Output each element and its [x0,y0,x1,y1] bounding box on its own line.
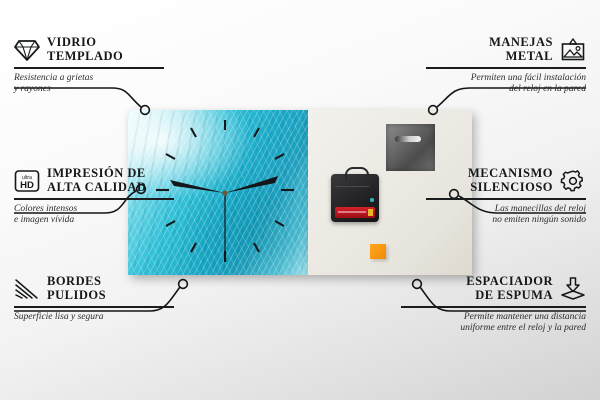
feature-header: MECANISMOSILENCIOSO [426,167,586,194]
title-underline [401,306,586,308]
beveled-edge-icon [14,276,40,302]
feature-description: Las manecillas del relojno emiten ningún… [426,204,586,227]
feature-espaciador-espuma[interactable]: ESPACIADORDE ESPUMA Permite mantener una… [401,275,586,335]
title-underline [426,198,586,200]
feature-header: MANEJASMETAL [426,36,586,63]
feature-header: ESPACIADORDE ESPUMA [401,275,586,302]
feature-description: Permite mantener una distanciauniforme e… [401,312,586,335]
feature-title: MECANISMOSILENCIOSO [468,167,553,194]
title-underline [426,67,586,69]
feature-header: ultra HD IMPRESIÓN DEALTA CALIDAD [14,167,174,194]
title-underline [14,67,164,69]
feature-header: VIDRIOTEMPLADO [14,36,164,63]
title-underline [14,306,174,308]
feature-bordes-pulidos[interactable]: BORDESPULIDOS Superficie lisa y segura [14,275,174,323]
feature-manejas-metal[interactable]: MANEJASMETAL Permiten una fácil instalac… [426,36,586,96]
title-underline [14,198,174,200]
feature-title: ESPACIADORDE ESPUMA [466,275,553,302]
svg-text:HD: HD [20,180,34,191]
feature-header: BORDESPULIDOS [14,275,174,302]
feature-description: Resistencia a grietasy rayones [14,73,164,96]
feature-title: IMPRESIÓN DEALTA CALIDAD [47,167,146,194]
press-down-layer-icon [560,276,586,302]
picture-hanger-icon [560,37,586,63]
feature-vidrio-templado[interactable]: VIDRIOTEMPLADO Resistencia a grietasy ra… [14,36,164,96]
gear-icon [560,168,586,194]
feature-title: BORDESPULIDOS [47,275,106,302]
feature-title: MANEJASMETAL [489,36,553,63]
feature-title: VIDRIOTEMPLADO [47,36,123,63]
diamond-icon [14,37,40,63]
feature-description: Permiten una fácil instalacióndel reloj … [426,73,586,96]
feature-description: Colores intensose imagen vívida [14,204,174,227]
infographic-canvas: VIDRIOTEMPLADO Resistencia a grietasy ra… [0,0,600,400]
feature-description: Superficie lisa y segura [14,312,174,324]
feature-mecanismo-silencioso[interactable]: MECANISMOSILENCIOSO Las manecillas del r… [426,167,586,227]
ultra-hd-icon: ultra HD [14,168,40,194]
feature-impresion-alta-calidad[interactable]: ultra HD IMPRESIÓN DEALTA CALIDAD Colore… [14,167,174,227]
